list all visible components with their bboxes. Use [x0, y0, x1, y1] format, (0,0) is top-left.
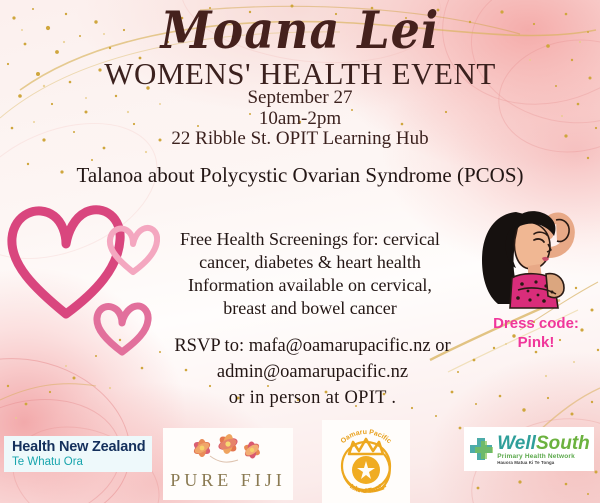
- health-nz-maori-name: Te Whatu Ora: [12, 455, 152, 469]
- event-topic: Talanoa about Polycystic Ovarian Syndrom…: [0, 163, 600, 188]
- wellsouth-tagline: Primary Health Network: [497, 453, 590, 460]
- dress-code-label: Dress code:: [474, 314, 598, 333]
- info-line: Information available on cervical,: [150, 274, 470, 297]
- wellsouth-south-text: South: [536, 434, 590, 453]
- pure-fiji-wordmark: PURE FIJI: [170, 470, 286, 491]
- poster-script-title: Moana Lei: [0, 1, 600, 59]
- heart-outline-icon: [4, 196, 128, 327]
- dress-code-value: Pink!: [474, 333, 598, 352]
- health-new-zealand-logo: Health New Zealand Te Whatu Ora: [4, 436, 152, 472]
- event-time: 10am-2pm: [0, 108, 600, 130]
- info-line: cancer, diabetes & heart health: [150, 251, 470, 274]
- medical-cross-icon: [468, 436, 494, 462]
- wellsouth-maori-tagline: Hauora Matua Ki Te Tonga: [497, 460, 590, 465]
- health-screening-info: Free Health Screenings for: cervical can…: [150, 228, 470, 320]
- flexing-woman-illustration: [472, 204, 590, 316]
- frangipani-flowers-icon: [180, 430, 276, 470]
- rsvp-line: or in person at OPIT .: [140, 385, 485, 411]
- wellsouth-logo: Well South Primary Health Network Hauora…: [464, 427, 594, 471]
- poster-canvas: Moana Lei WOMENS' HEALTH EVENT September…: [0, 0, 600, 503]
- info-line: Free Health Screenings for: cervical: [150, 228, 470, 251]
- rsvp-line: RSVP to: mafa@oamarupacific.nz or: [140, 333, 485, 359]
- event-venue: 22 Ribble St. OPIT Learning Hub: [0, 128, 600, 150]
- rsvp-info: RSVP to: mafa@oamarupacific.nz or admin@…: [140, 333, 485, 411]
- wellsouth-well-text: Well: [497, 434, 536, 453]
- dress-code-note: Dress code: Pink!: [474, 314, 598, 352]
- rsvp-line: admin@oamarupacific.nz: [140, 359, 485, 385]
- oamaru-pacific-island-trust-logo: Oamaru Pacific Island Trust: [322, 420, 410, 503]
- pure-fiji-logo: PURE FIJI: [163, 428, 293, 500]
- sponsor-logo-strip: Health New Zealand Te Whatu Ora: [0, 425, 600, 503]
- opit-bottom-text: Island Trust: [348, 483, 384, 495]
- info-line: breast and bowel cancer: [150, 297, 470, 320]
- health-nz-name: Health New Zealand: [12, 439, 152, 455]
- event-date: September 27: [0, 87, 600, 109]
